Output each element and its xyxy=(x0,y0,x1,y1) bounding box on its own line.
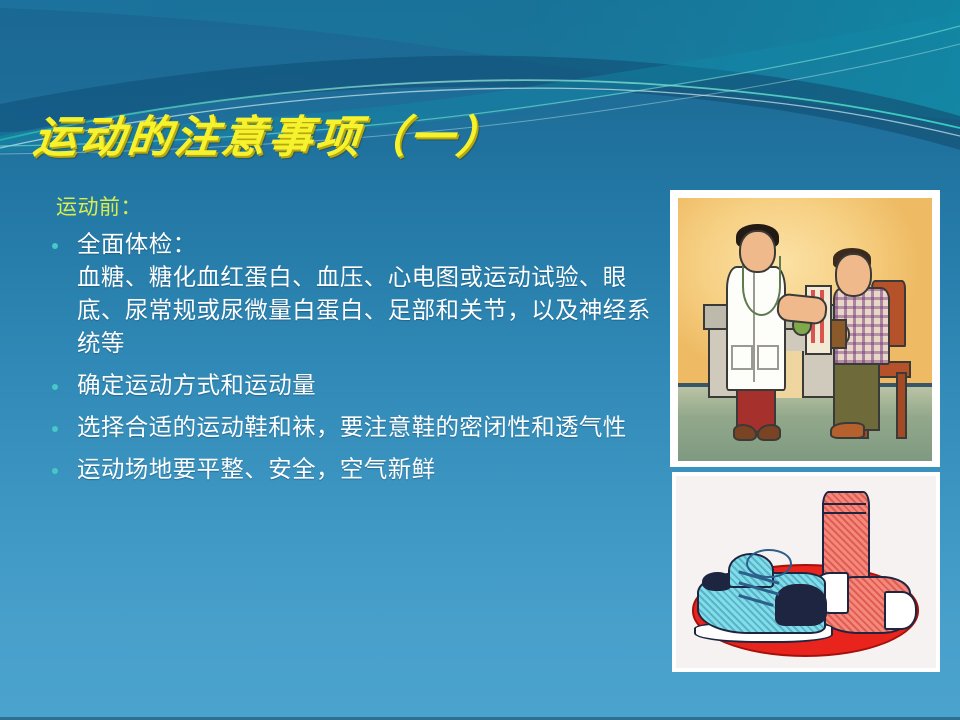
chair-leg xyxy=(896,372,906,439)
patient-shoe xyxy=(830,422,864,439)
sock-cuff-line xyxy=(822,503,866,505)
doctor-shoe xyxy=(733,424,757,441)
content-body: 运动前： 全面体检： 血糖、糖化血红蛋白、血压、心电图或运动试验、眼底、尿常规或… xyxy=(44,192,654,496)
decorative-wave-band xyxy=(0,0,960,200)
section-subheading: 运动前： xyxy=(56,192,654,222)
bullet-dot-icon xyxy=(52,468,58,474)
sock-cuff-line xyxy=(822,512,866,514)
bullet-dot-icon xyxy=(52,243,58,249)
list-item: 确定运动方式和运动量 xyxy=(44,370,654,403)
slide-canvas: 运动的注意事项（一） 运动前： 全面体检： 血糖、糖化血红蛋白、血压、心电图或运… xyxy=(0,0,960,720)
bullet-main-text: 运动场地要平整、安全，空气新鲜 xyxy=(77,454,654,487)
bullet-dot-icon xyxy=(52,426,58,432)
doctor-arm xyxy=(776,293,828,326)
doctor-checkup-illustration xyxy=(670,190,940,467)
list-item: 运动场地要平整、安全，空气新鲜 xyxy=(44,454,654,487)
patient-legs xyxy=(833,356,880,431)
bullet-main-text: 确定运动方式和运动量 xyxy=(77,370,654,403)
bullet-sub-text: 血糖、糖化血红蛋白、血压、心电图或运动试验、眼底、尿常规或尿微量白蛋白、足部和关… xyxy=(77,262,654,361)
sock-toe xyxy=(884,591,917,630)
lab-coat-pocket xyxy=(731,345,753,370)
sports-shoe-and-sock-illustration xyxy=(672,472,940,672)
bullet-list: 全面体检： 血糖、糖化血红蛋白、血压、心电图或运动试验、眼底、尿常规或尿微量白蛋… xyxy=(44,229,654,487)
bullet-main-text: 选择合适的运动鞋和袜，要注意鞋的密闭性和透气性 xyxy=(77,412,654,445)
page-title: 运动的注意事项（一） xyxy=(31,101,508,165)
bullet-main-text: 全面体检： xyxy=(77,229,654,262)
list-item: 选择合适的运动鞋和袜，要注意鞋的密闭性和透气性 xyxy=(44,412,654,445)
lab-coat-pocket xyxy=(757,345,779,370)
list-item: 全面体检： 血糖、糖化血红蛋白、血压、心电图或运动试验、眼底、尿常规或尿微量白蛋… xyxy=(44,229,654,361)
bullet-dot-icon xyxy=(52,384,58,390)
patient-head xyxy=(835,253,872,296)
exam-room-floor xyxy=(678,387,932,461)
shoe-toe-cap xyxy=(775,584,827,626)
doctor-head xyxy=(739,230,776,273)
doctor-shoe xyxy=(757,424,781,441)
